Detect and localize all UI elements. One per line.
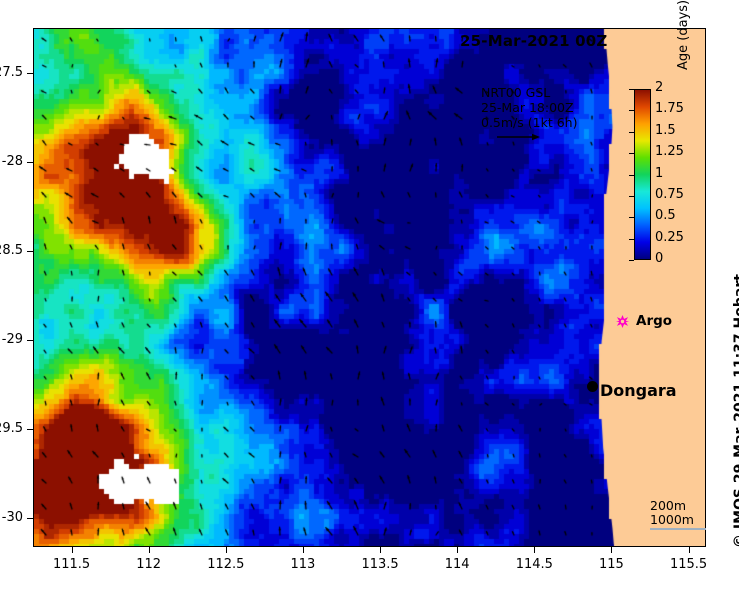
scalebar-upper-label: 200m bbox=[650, 499, 706, 513]
y-axis-tick bbox=[27, 162, 33, 163]
colorbar-tick bbox=[629, 132, 634, 133]
colorbar-tick bbox=[629, 217, 634, 218]
argo-marker-icon bbox=[616, 315, 629, 328]
x-axis-tick bbox=[72, 547, 73, 553]
y-axis-label: -29.5 bbox=[0, 421, 23, 436]
colorbar-tick-label: 0.75 bbox=[655, 187, 684, 202]
y-axis-tick bbox=[27, 73, 33, 74]
velocity-scale-arrow-icon bbox=[496, 132, 540, 142]
colorbar-tick bbox=[629, 239, 634, 240]
x-axis-tick bbox=[611, 547, 612, 553]
x-axis-label: 112.5 bbox=[196, 557, 256, 572]
y-axis-label: -29 bbox=[0, 332, 23, 347]
x-axis-label: 114.5 bbox=[504, 557, 564, 572]
colorbar-tick bbox=[629, 196, 634, 197]
x-axis-label: 113.5 bbox=[350, 557, 410, 572]
x-axis-tick bbox=[380, 547, 381, 553]
colorbar-tick-label: 1.75 bbox=[655, 101, 684, 116]
colorbar bbox=[634, 89, 651, 260]
sst-age-heatmap bbox=[34, 29, 705, 546]
x-axis-label: 115.5 bbox=[659, 557, 719, 572]
x-axis-tick bbox=[149, 547, 150, 553]
x-axis-tick bbox=[303, 547, 304, 553]
colorbar-tick-label: 1.5 bbox=[655, 123, 676, 138]
x-axis-label: 115 bbox=[581, 557, 641, 572]
y-axis-tick bbox=[27, 340, 33, 341]
y-axis-tick bbox=[27, 429, 33, 430]
dongara-marker-icon bbox=[587, 381, 598, 392]
colorbar-tick bbox=[629, 89, 634, 90]
argo-label: Argo bbox=[636, 313, 672, 329]
y-axis-label: -28.5 bbox=[0, 243, 23, 258]
x-axis-label: 114 bbox=[427, 557, 487, 572]
annotation-line-1: NRT00 GSL bbox=[481, 85, 577, 100]
colorbar-tick-label: 2 bbox=[655, 80, 663, 95]
copyright-notice: © IMOS 29-Mar-2021 11:37 Hobart bbox=[732, 274, 739, 548]
argo-legend: Argo bbox=[616, 313, 672, 329]
colorbar-title: Age (days) of filled SST (wrt latest) bbox=[676, 0, 691, 70]
y-axis-label: -28 bbox=[0, 154, 23, 169]
colorbar-tick-label: 0.5 bbox=[655, 208, 676, 223]
annotation-line-3: 0.5m/s (1kt 6h) bbox=[481, 115, 577, 130]
annotation-line-2: 25-Mar 18:00Z bbox=[481, 100, 577, 115]
scalebar-lower-label: 1000m bbox=[650, 513, 706, 527]
map-plot-area[interactable] bbox=[33, 28, 706, 547]
map-title: 25-Mar-2021 00Z bbox=[460, 32, 608, 50]
x-axis-tick bbox=[534, 547, 535, 553]
x-axis-tick bbox=[457, 547, 458, 553]
current-annotation: NRT00 GSL 25-Mar 18:00Z 0.5m/s (1kt 6h) bbox=[481, 85, 577, 130]
y-axis-label: -27.5 bbox=[0, 65, 23, 80]
x-axis-label: 111.5 bbox=[42, 557, 102, 572]
dongara-label: Dongara bbox=[600, 381, 677, 400]
colorbar-tick bbox=[629, 175, 634, 176]
colorbar-tick bbox=[629, 110, 634, 111]
x-axis-label: 112 bbox=[119, 557, 179, 572]
colorbar-tick-label: 0 bbox=[655, 251, 663, 266]
colorbar-tick-label: 0.25 bbox=[655, 230, 684, 245]
scalebar-rule bbox=[650, 528, 706, 530]
map-figure: 25-Mar-2021 00Z NRT00 GSL 25-Mar 18:00Z … bbox=[0, 0, 739, 592]
colorbar-tick bbox=[629, 260, 634, 261]
y-axis-label: -30 bbox=[0, 510, 23, 525]
x-axis-label: 113 bbox=[273, 557, 333, 572]
y-axis-tick bbox=[27, 251, 33, 252]
colorbar-tick-label: 1.25 bbox=[655, 144, 684, 159]
y-axis-tick bbox=[27, 518, 33, 519]
colorbar-tick bbox=[629, 153, 634, 154]
x-axis-tick bbox=[226, 547, 227, 553]
colorbar-tick-label: 1 bbox=[655, 166, 663, 181]
depth-scale-bar: 200m 1000m bbox=[650, 499, 706, 530]
colorbar-gradient bbox=[635, 90, 650, 259]
x-axis-tick bbox=[689, 547, 690, 553]
